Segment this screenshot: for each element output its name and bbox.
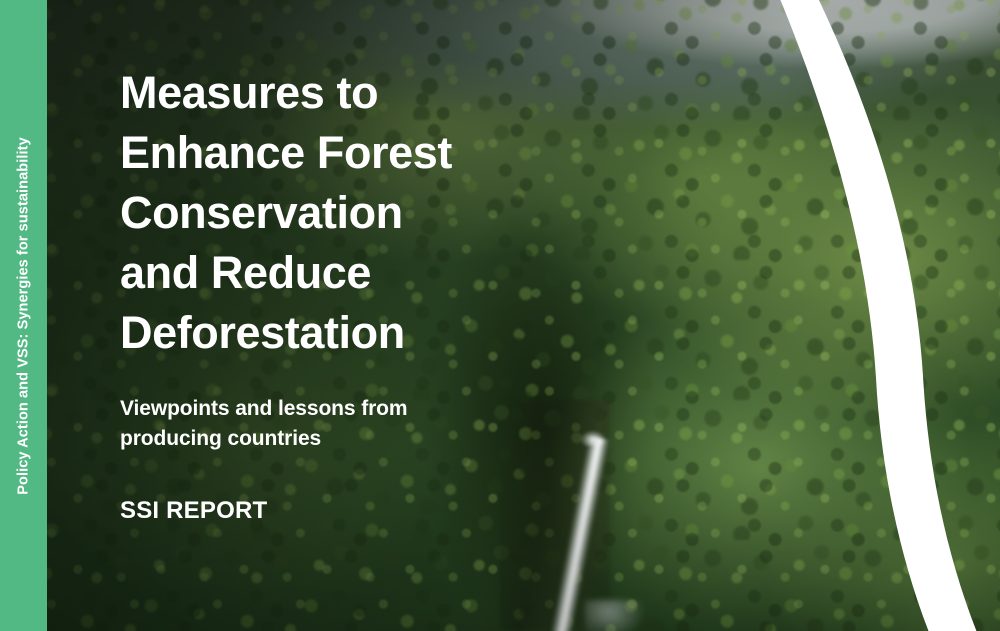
subtitle-line-1: Viewpoints and lessons from (120, 394, 520, 424)
report-cover: Policy Action and VSS: Synergies for sus… (0, 0, 1000, 631)
page-title: Measures to Enhance Forest Conservation … (120, 63, 540, 363)
title-line-4: and Reduce (120, 243, 540, 303)
page-subtitle: Viewpoints and lessons from producing co… (120, 394, 520, 454)
title-line-1: Measures to (120, 63, 540, 123)
title-line-2: Enhance Forest (120, 123, 540, 183)
title-line-3: Conservation (120, 183, 540, 243)
title-line-5: Deforestation (120, 303, 540, 363)
subtitle-line-2: producing countries (120, 424, 520, 454)
report-type-label: SSI REPORT (120, 497, 267, 525)
cover-text-block: Measures to Enhance Forest Conservation … (120, 0, 680, 631)
series-spine-label: Policy Action and VSS: Synergies for sus… (16, 137, 32, 494)
series-spine: Policy Action and VSS: Synergies for sus… (0, 0, 47, 631)
